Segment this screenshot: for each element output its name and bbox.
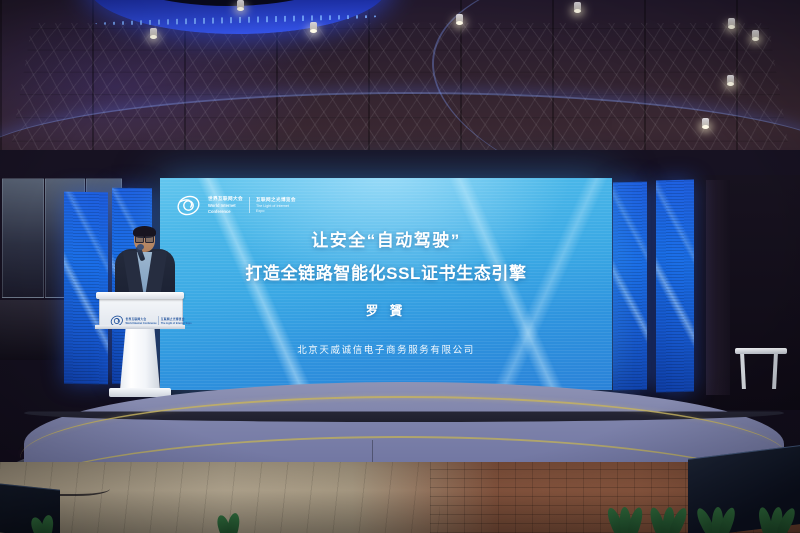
window-pane	[2, 178, 44, 298]
slide-title-line2: 打造全链路智能化SSL证书生态引擎	[172, 259, 600, 284]
wic-logo-lockup: 世界互联网大会 World Internet Conference 互联网之光博…	[176, 193, 296, 218]
wic-logo-en-line2: Conference	[208, 209, 243, 214]
plant-foliage	[700, 503, 734, 533]
plant-foliage	[218, 503, 252, 533]
podium: 世界互联网大会 World Internet Conference 互联网之光博…	[96, 292, 184, 402]
spotlight-icon	[456, 14, 463, 23]
spotlight-icon	[702, 118, 709, 127]
wic-logo-right-block: 互联网之光博览会 The Light of Internet Expo	[256, 197, 296, 214]
wic-logo-left-block: 世界互联网大会 World Internet Conference	[208, 196, 243, 214]
plant-foliage	[760, 503, 794, 533]
expo-logo-cn: 互联网之光博览会	[256, 197, 296, 203]
podium-column	[120, 328, 160, 390]
slide-title-line1: 让安全“自动驾驶”	[172, 226, 600, 251]
wic-logo-text: 世界互联网大会 World Internet Conference 互联网之光博…	[208, 196, 296, 214]
podium-logo-left-block: 世界互联网大会 World Internet Conference	[126, 317, 157, 324]
led-pixel-mesh	[613, 182, 647, 391]
side-table-top	[735, 348, 787, 354]
slide-organization: 北京天威诚信电子商务服务有限公司	[172, 342, 600, 356]
microphone-head	[137, 244, 144, 250]
speaker-person	[108, 228, 182, 298]
spotlight-icon	[728, 18, 735, 27]
stage-pillar-right	[706, 180, 730, 395]
wic-logo-cn: 世界互联网大会	[208, 196, 243, 202]
podium-expo-cn: 互联网之光博览会	[161, 317, 192, 320]
plant-foliage	[652, 503, 686, 533]
main-presentation-screen: 世界互联网大会 World Internet Conference 互联网之光博…	[160, 178, 612, 390]
wic-spiral-eye-logo-icon	[176, 193, 201, 218]
spotlight-icon	[237, 0, 244, 9]
podium-logo-cn: 世界互联网大会	[126, 317, 157, 320]
podium-ledge	[95, 325, 185, 329]
wic-logo-en-line1: World Internet	[208, 203, 243, 208]
plant-foliage	[610, 503, 644, 533]
logo-divider	[249, 197, 250, 213]
led-panel-right-inner	[613, 182, 647, 391]
led-panel-right-outer	[656, 179, 694, 392]
side-table	[735, 348, 787, 390]
spotlight-icon	[727, 75, 734, 84]
slide-text-block: 让安全“自动驾驶” 打造全链路智能化SSL证书生态引擎 罗 贇 北京天威诚信电子…	[160, 226, 612, 356]
spotlight-icon	[752, 30, 759, 39]
conference-stage-photo: 世界互联网大会 World Internet Conference 互联网之光博…	[0, 0, 800, 533]
side-table-leg-right	[772, 353, 778, 389]
podium-logo-right-block: 互联网之光博览会 The Light of Internet Expo	[161, 317, 192, 324]
podium-top-surface	[96, 292, 184, 299]
expo-logo-en-line2: Expo	[256, 209, 296, 214]
led-pixel-mesh	[656, 179, 694, 392]
slide-speaker-name: 罗 贇	[172, 300, 600, 319]
expo-logo-en-line1: The Light of Internet	[256, 204, 296, 209]
spotlight-icon	[310, 22, 317, 31]
eyeglasses-icon	[135, 236, 154, 241]
spotlight-icon	[150, 28, 157, 37]
spotlight-icon	[574, 2, 581, 11]
side-table-leg-left	[740, 353, 746, 389]
podium-front-panel: 世界互联网大会 World Internet Conference 互联网之光博…	[99, 298, 183, 328]
plant-foliage	[32, 503, 66, 533]
